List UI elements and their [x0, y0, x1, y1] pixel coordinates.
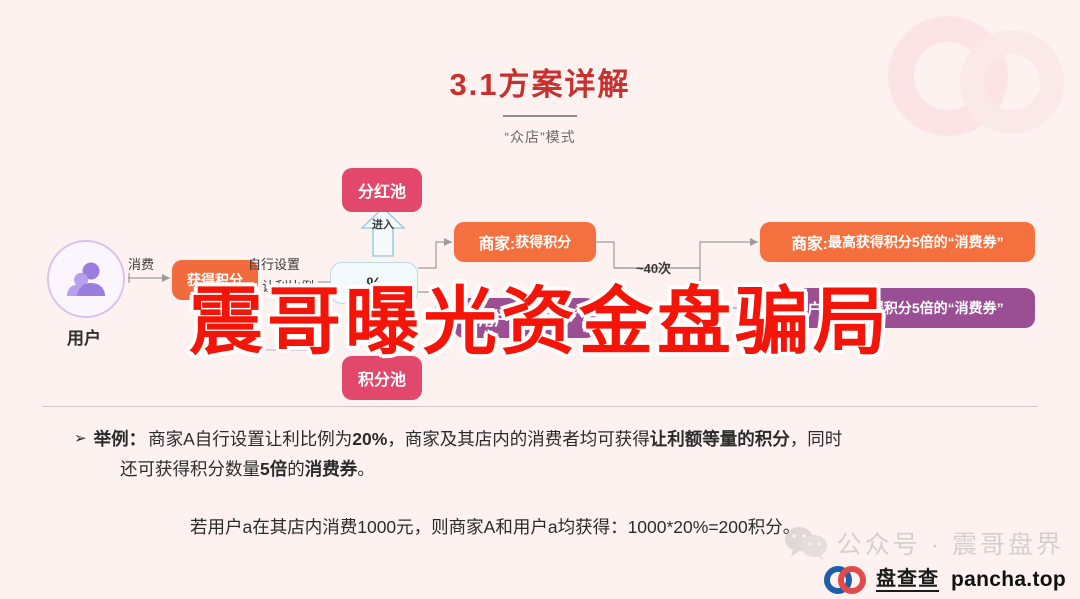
text-line2-a: 还可获得积分数量 [120, 459, 260, 479]
text-line1-b: 20% [352, 429, 387, 449]
watermark-text: 公众号 · 震哥盘界 [837, 525, 1064, 561]
example-line: 若用户a在其店内消费1000元，则商家A和用户a均获得：1000*20%=200… [190, 512, 800, 542]
edge-label-times: ~40次 [636, 258, 671, 277]
node-merchant-source-label: 获得积分 [187, 270, 243, 290]
brand-bar[interactable]: 盘查查 pancha.top [822, 565, 1066, 595]
arrow-up-icon [360, 206, 406, 258]
text-line1-e: ，同时 [790, 429, 843, 449]
user-group-icon [65, 259, 107, 299]
node-dividend-pool-label: 分红池 [358, 178, 406, 202]
node-user-points-lead: 用户: [479, 307, 516, 330]
node-user-coupon-lead: 用户: [791, 297, 828, 320]
node-dividend-pool[interactable]: 分红池 [342, 168, 422, 212]
title-divider [503, 115, 577, 117]
node-user[interactable]: 用户 [47, 240, 125, 349]
arrow-enter-label: 进入 [360, 219, 406, 231]
wechat-icon [783, 525, 829, 561]
node-percent-label: % [331, 263, 417, 305]
bullet-body: 商家A自行设置让利比例为20%，商家及其店内的消费者均可获得让利额等量的积分，同… [148, 424, 1014, 454]
body-text-block: ➢ 举例： 商家A自行设置让利比例为20%，商家及其店内的消费者均可获得让利额等… [74, 424, 1014, 484]
text-line2-e: 。 [357, 459, 375, 479]
node-merchant-points[interactable]: 商家:获得积分 [454, 222, 596, 262]
brand-name: 盘查查 [876, 568, 939, 592]
section-divider [42, 406, 1038, 407]
bullet-marker-icon: ➢ [74, 424, 87, 454]
user-label: 用户 [47, 324, 121, 349]
pancha-logo-icon [822, 565, 870, 595]
bullet-second-line: 还可获得积分数量5倍的消费券。 [120, 454, 1014, 484]
text-line2-b: 5倍 [260, 459, 287, 479]
text-line1-d: 让利额等量的积分 [650, 429, 790, 449]
bullet-key: 举例： [94, 424, 147, 454]
node-user-coupon[interactable]: 用户:最高获得积分5倍的“消费券” [760, 288, 1035, 328]
flow-diagram: 用户 消费 获得积分 自行设置 让利比例 % 进入 分红池 积分池 [0, 170, 1080, 400]
diagram-connectors [0, 170, 1080, 400]
node-merchant-points-lead: 商家: [479, 231, 516, 254]
node-user-coupon-rest: 最高获得积分5倍的“消费券” [828, 298, 1004, 318]
edge-label-ratio: 让利比例 [262, 276, 314, 295]
page-subtitle: “众店”模式 [0, 127, 1080, 147]
brand-domain: pancha.top [951, 568, 1066, 592]
bullet-row: ➢ 举例： 商家A自行设置让利比例为20%，商家及其店内的消费者均可获得让利额等… [74, 424, 1014, 454]
node-user-points[interactable]: 用户:获得积分 [454, 298, 596, 338]
text-line2-d: 消费券 [305, 459, 358, 479]
node-user-points-rest: 获得积分 [515, 308, 571, 328]
node-merchant-coupon[interactable]: 商家:最高获得积分5倍的“消费券” [760, 222, 1035, 262]
edge-label-self-set: 自行设置 [248, 254, 300, 273]
edge-label-consume: 消费 [128, 254, 154, 273]
arrow-enter: 进入 [360, 206, 406, 258]
node-merchant-points-rest: 获得积分 [515, 232, 571, 252]
node-merchant-coupon-rest: 最高获得积分5倍的“消费券” [828, 232, 1004, 252]
slide-canvas: 3.1方案详解 “众店”模式 [0, 0, 1080, 599]
node-merchant-source[interactable]: 获得积分 [172, 260, 258, 300]
text-line1-c: ，商家及其店内的消费者均可获得 [387, 429, 650, 449]
text-line2-c: 的 [287, 459, 305, 479]
user-avatar-circle [47, 240, 125, 318]
node-points-pool[interactable]: 积分池 [342, 356, 422, 400]
node-percent-box[interactable]: % [330, 262, 418, 304]
node-points-pool-label: 积分池 [358, 366, 406, 390]
watermark: 公众号 · 震哥盘界 [783, 525, 1064, 561]
page-title: 3.1方案详解 [0, 68, 1080, 102]
slide-header: 3.1方案详解 “众店”模式 [0, 68, 1080, 147]
node-merchant-coupon-lead: 商家: [791, 231, 828, 254]
text-line1-a: 商家A自行设置让利比例为 [148, 429, 352, 449]
